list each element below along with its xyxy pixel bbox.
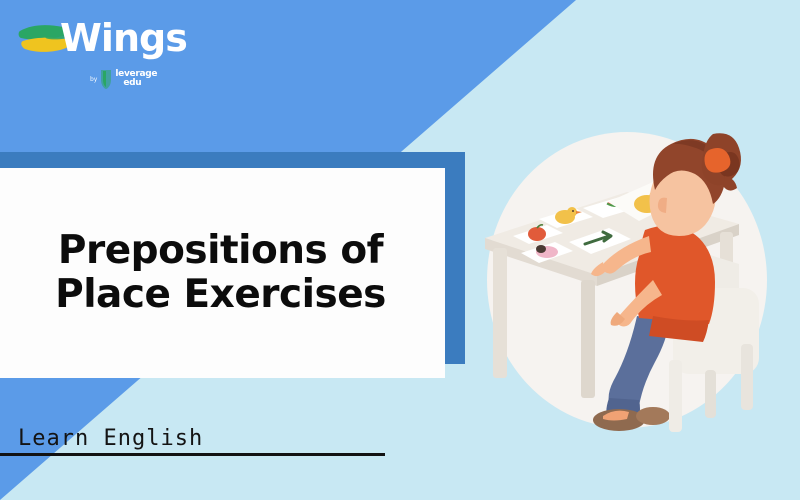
leverage-edu-checkmark-icon xyxy=(100,68,112,90)
child-with-flashcards-illustration xyxy=(477,120,777,440)
footer-divider xyxy=(0,453,385,456)
page-title: Prepositions of Place Exercises xyxy=(1,229,441,316)
logo-wordmark: Wings xyxy=(60,16,187,60)
brand-logo[interactable]: Wings by leverage edu xyxy=(18,18,198,102)
title-card: Prepositions of Place Exercises xyxy=(0,168,445,378)
logo-by-label: by xyxy=(90,76,97,83)
child-shoe-right xyxy=(636,407,670,425)
logo-main-row: Wings xyxy=(18,18,198,70)
banner: Wings by leverage edu Prepositions of Pl… xyxy=(0,0,800,500)
logo-sub-wordmark: leverage edu xyxy=(115,70,157,88)
logo-sub-line-2: edu xyxy=(115,79,157,88)
footer-category-label: Learn English xyxy=(18,426,203,451)
logo-sublogo: by leverage edu xyxy=(90,68,157,90)
